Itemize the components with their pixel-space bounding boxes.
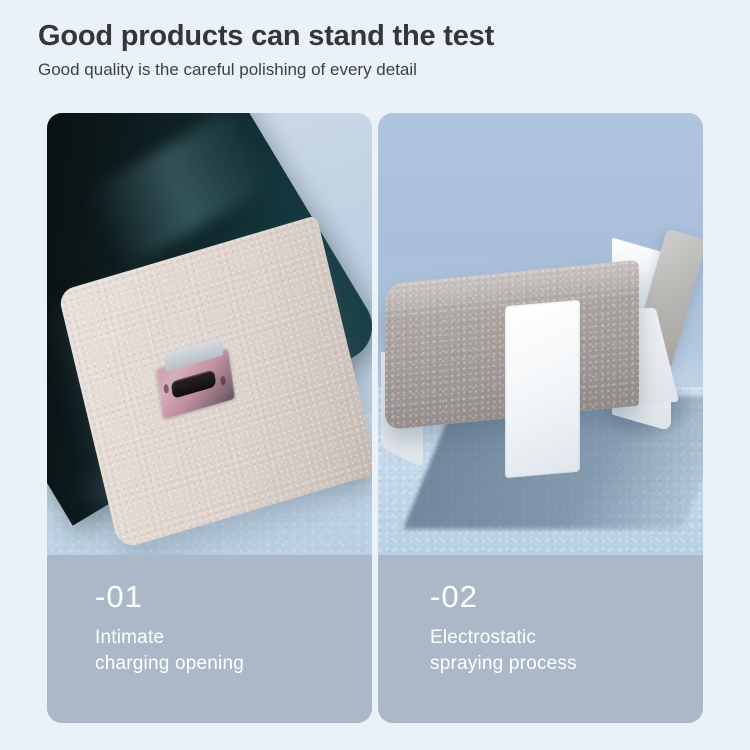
caption-panel: -01 Intimate charging opening: [47, 555, 372, 723]
caption-line-2: charging opening: [95, 651, 342, 677]
caption-line-1: Electrostatic: [430, 625, 673, 651]
caption-panel: -02 Electrostatic spraying process: [378, 555, 703, 723]
product-label-window: [505, 300, 580, 479]
page-title: Good products can stand the test: [38, 20, 718, 53]
feature-card-list: -01 Intimate charging opening: [47, 113, 703, 723]
page-subtitle: Good quality is the careful polishing of…: [38, 60, 718, 80]
header: Good products can stand the test Good qu…: [38, 20, 718, 81]
caption-number: -02: [430, 581, 673, 612]
caption-line-2: spraying process: [430, 651, 673, 677]
caption-text: Intimate charging opening: [95, 625, 342, 677]
caption-line-1: Intimate: [95, 625, 342, 651]
caption-text: Electrostatic spraying process: [430, 625, 673, 677]
product-feature-banner: Good products can stand the test Good qu…: [0, 0, 750, 750]
feature-card-02[interactable]: -02 Electrostatic spraying process: [378, 113, 703, 723]
photo-scene: [378, 113, 703, 555]
photo-scene: [47, 113, 372, 555]
feature-card-01[interactable]: -01 Intimate charging opening: [47, 113, 372, 723]
caption-number: -01: [95, 581, 342, 612]
product-photo-sprayed-surface: [378, 113, 703, 555]
product-photo-charging-port: [47, 113, 372, 555]
